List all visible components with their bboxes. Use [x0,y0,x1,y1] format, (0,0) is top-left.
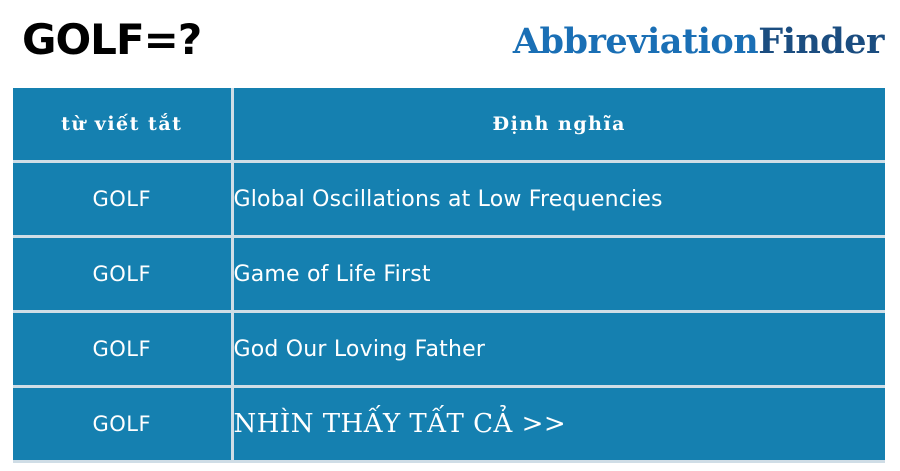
brand-logo[interactable]: AbbreviationFinder [513,20,884,64]
table-row[interactable]: GOLF Game of Life First [13,237,885,312]
page-title: GOLF=? [22,16,201,64]
cell-abbreviation: GOLF [13,387,232,462]
cell-abbreviation: GOLF [13,237,232,312]
page-header: GOLF=? AbbreviationFinder [0,0,900,88]
column-header-abbreviation: từ viết tắt [13,88,232,162]
table-row[interactable]: GOLF God Our Loving Father [13,312,885,387]
cell-definition[interactable]: Global Oscillations at Low Frequencies [232,162,885,237]
table-header-row: từ viết tắt Định nghĩa [13,88,885,162]
brand-logo-finder: Finder [758,21,884,62]
abbreviation-table: từ viết tắt Định nghĩa GOLF Global Oscil… [13,88,885,463]
table-row-see-all[interactable]: GOLF NHÌN THẤY TẤT CẢ >> [13,387,885,462]
cell-abbreviation: GOLF [13,312,232,387]
brand-logo-abbreviation: Abbreviation [513,21,758,62]
see-all-link[interactable]: NHÌN THẤY TẤT CẢ >> [232,387,885,462]
column-header-definition: Định nghĩa [232,88,885,162]
table-row[interactable]: GOLF Global Oscillations at Low Frequenc… [13,162,885,237]
cell-abbreviation: GOLF [13,162,232,237]
cell-definition[interactable]: Game of Life First [232,237,885,312]
cell-definition[interactable]: God Our Loving Father [232,312,885,387]
